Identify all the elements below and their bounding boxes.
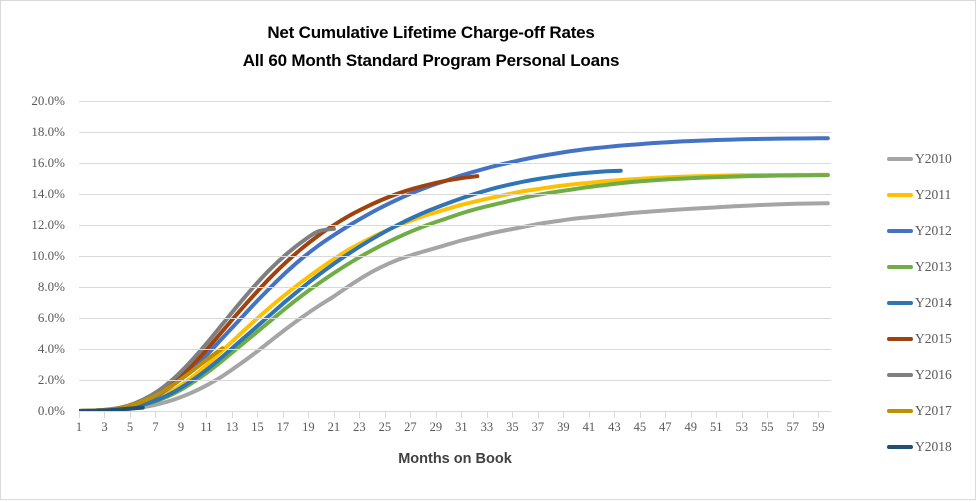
y-tick-label: 0.0% [38,403,65,419]
y-axis-labels: 0.0%2.0%4.0%6.0%8.0%10.0%12.0%14.0%16.0%… [1,101,71,411]
x-tick-label: 29 [430,420,443,435]
x-tick-mark [79,412,80,418]
x-tick-mark [359,412,360,418]
legend-swatch-icon [887,373,913,377]
gridline [79,256,831,257]
legend-swatch-icon [887,409,913,413]
x-tick-label: 47 [659,420,672,435]
chart-title: Net Cumulative Lifetime Charge-off Rates… [1,19,861,75]
x-tick-label: 51 [710,420,723,435]
legend-label: Y2013 [915,259,952,275]
gridline [79,101,831,102]
legend-item-y2016[interactable]: Y2016 [887,357,977,393]
x-tick-label: 35 [506,420,519,435]
x-tick-label: 19 [302,420,315,435]
x-tick-label: 27 [404,420,417,435]
x-tick-mark [793,412,794,418]
y-tick-label: 18.0% [31,124,65,140]
chart-title-line-2: All 60 Month Standard Program Personal L… [1,47,861,75]
x-tick-label: 23 [353,420,366,435]
x-tick-mark [487,412,488,418]
legend-swatch-icon [887,301,913,305]
x-axis-labels: 1357911131517192123252729313335373941434… [79,420,831,442]
x-tick-mark [155,412,156,418]
x-tick-mark [308,412,309,418]
y-tick-label: 8.0% [38,279,65,295]
gridline [79,318,831,319]
x-tick-mark [665,412,666,418]
x-tick-mark [257,412,258,418]
x-tick-mark [232,412,233,418]
y-tick-label: 14.0% [31,186,65,202]
y-tick-label: 6.0% [38,310,65,326]
x-tick-label: 11 [200,420,212,435]
gridline [79,380,831,381]
y-tick-label: 20.0% [31,93,65,109]
y-tick-label: 16.0% [31,155,65,171]
x-tick-label: 33 [481,420,494,435]
legend-swatch-icon [887,265,913,269]
x-tick-mark [563,412,564,418]
gridline [79,287,831,288]
x-tick-mark [512,412,513,418]
legend-label: Y2018 [915,439,952,455]
legend-item-y2018[interactable]: Y2018 [887,429,977,465]
gridline [79,194,831,195]
x-tick-label: 43 [608,420,621,435]
x-tick-mark [206,412,207,418]
x-tick-label: 39 [557,420,570,435]
x-tick-mark [410,412,411,418]
legend-item-y2010[interactable]: Y2010 [887,141,977,177]
x-tick-mark [716,412,717,418]
legend-label: Y2010 [915,151,952,167]
x-tick-mark [767,412,768,418]
gridline [79,163,831,164]
x-tick-label: 25 [379,420,392,435]
gridline [79,349,831,350]
legend-swatch-icon [887,229,913,233]
x-axis-ticks [79,412,831,418]
y-tick-label: 10.0% [31,248,65,264]
x-tick-label: 59 [812,420,825,435]
x-tick-mark [691,412,692,418]
x-tick-label: 7 [152,420,158,435]
x-tick-label: 17 [277,420,290,435]
legend-item-y2014[interactable]: Y2014 [887,285,977,321]
x-tick-label: 15 [251,420,264,435]
y-tick-label: 4.0% [38,341,65,357]
x-tick-mark [181,412,182,418]
series-line-y2015 [79,176,477,411]
x-tick-label: 21 [328,420,341,435]
gridline [79,132,831,133]
y-tick-label: 2.0% [38,372,65,388]
legend-label: Y2016 [915,367,952,383]
x-tick-mark [436,412,437,418]
x-tick-label: 31 [455,420,468,435]
legend-swatch-icon [887,157,913,161]
legend-swatch-icon [887,337,913,341]
legend-label: Y2014 [915,295,952,311]
legend-label: Y2015 [915,331,952,347]
x-tick-label: 3 [101,420,107,435]
legend-item-y2011[interactable]: Y2011 [887,177,977,213]
x-tick-mark [589,412,590,418]
y-tick-label: 12.0% [31,217,65,233]
x-tick-label: 55 [761,420,774,435]
x-axis-title: Months on Book [79,451,831,467]
x-tick-mark [385,412,386,418]
legend-swatch-icon [887,445,913,449]
legend-label: Y2012 [915,223,952,239]
legend-label: Y2017 [915,403,952,419]
x-tick-label: 37 [532,420,545,435]
x-tick-mark [130,412,131,418]
x-tick-label: 45 [634,420,647,435]
series-line-y2011 [79,175,828,411]
x-tick-label: 41 [583,420,596,435]
x-tick-label: 1 [76,420,82,435]
x-tick-mark [283,412,284,418]
x-tick-mark [104,412,105,418]
series-line-y2014 [79,171,621,411]
legend-swatch-icon [887,193,913,197]
x-tick-mark [334,412,335,418]
x-tick-mark [818,412,819,418]
x-tick-mark [614,412,615,418]
x-tick-mark [640,412,641,418]
x-tick-mark [742,412,743,418]
legend-item-y2013[interactable]: Y2013 [887,249,977,285]
chart-title-line-1: Net Cumulative Lifetime Charge-off Rates [1,19,861,47]
legend-label: Y2011 [915,187,951,203]
legend-item-y2012[interactable]: Y2012 [887,213,977,249]
legend-item-y2015[interactable]: Y2015 [887,321,977,357]
legend-item-y2017[interactable]: Y2017 [887,393,977,429]
x-tick-label: 49 [685,420,698,435]
chart-container: Net Cumulative Lifetime Charge-off Rates… [0,0,976,500]
plot-area [79,101,831,411]
x-tick-label: 9 [178,420,184,435]
x-tick-label: 5 [127,420,133,435]
x-tick-label: 53 [736,420,749,435]
x-tick-mark [461,412,462,418]
chart-legend: Y2010Y2011Y2012Y2013Y2014Y2015Y2016Y2017… [887,141,977,465]
x-tick-label: 57 [787,420,800,435]
x-tick-mark [538,412,539,418]
gridline [79,225,831,226]
x-tick-label: 13 [226,420,239,435]
